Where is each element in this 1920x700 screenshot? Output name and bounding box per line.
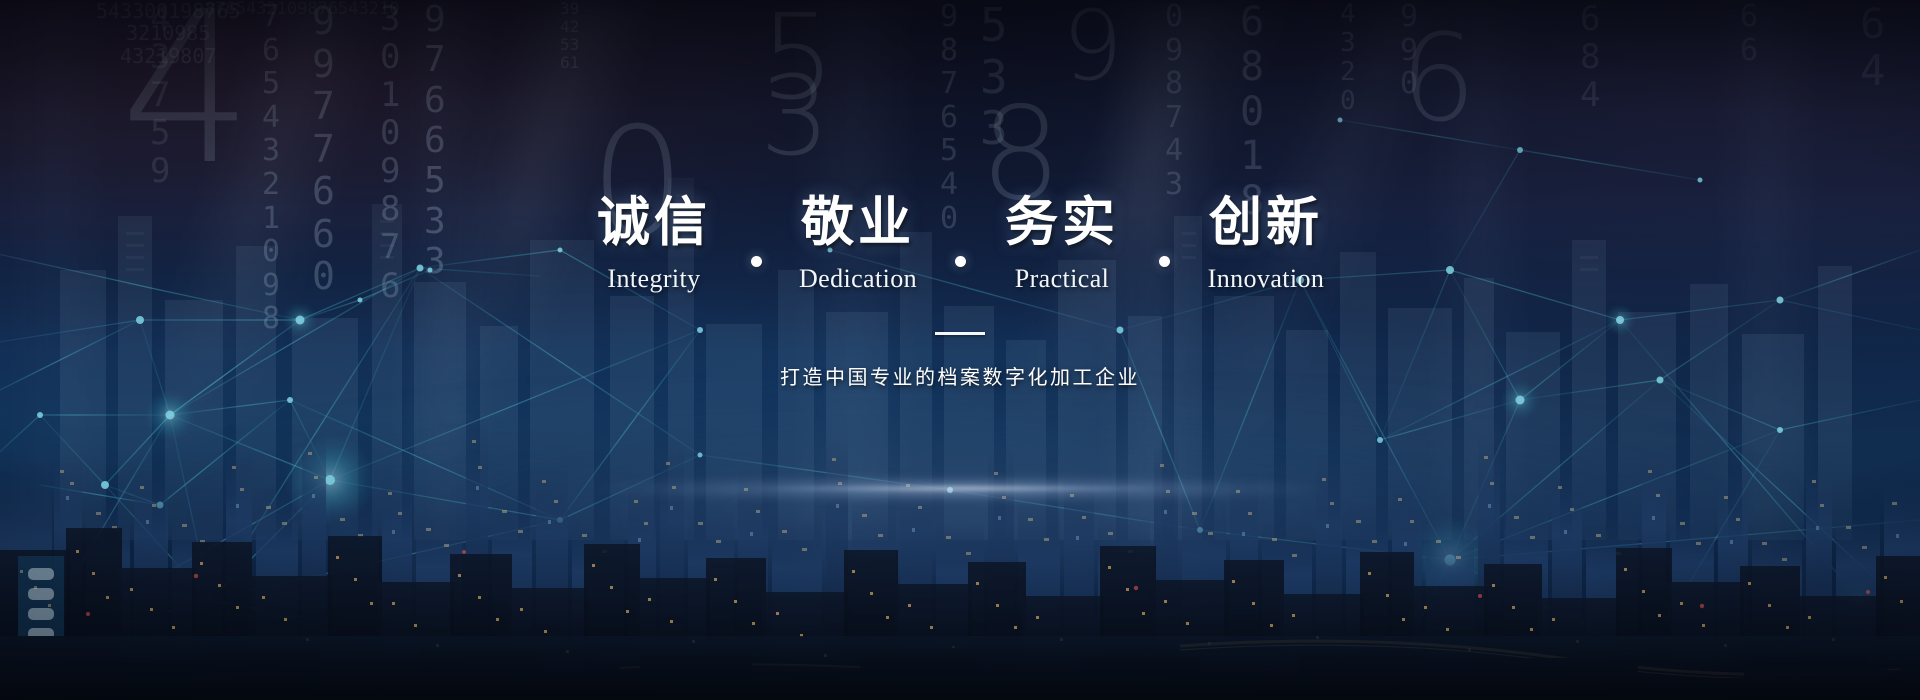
slogan-separator (1138, 239, 1190, 292)
hero-banner: 543300198765 3210985 432198074 3 7 5 987… (0, 0, 1920, 700)
dot-icon (751, 256, 762, 267)
slogan-word-en: Innovation (1208, 266, 1325, 292)
slogan-word-en: Practical (1015, 266, 1110, 292)
slogan-word: 敬业Dedication (782, 196, 934, 292)
slogan-word: 诚信Integrity (578, 196, 730, 292)
dot-icon (1159, 256, 1170, 267)
slogan-headline: 诚信Integrity敬业Dedication务实Practical创新Inno… (578, 196, 1342, 292)
slogan-word-cn: 创新 (1209, 196, 1323, 249)
slogan-word-cn: 诚信 (597, 196, 711, 249)
slogan-word-en: Integrity (607, 266, 700, 292)
slogan-separator (934, 239, 986, 292)
slogan-word: 务实Practical (986, 196, 1138, 292)
divider-rule (935, 332, 985, 335)
slogan-separator (730, 239, 782, 292)
banner-content: 诚信Integrity敬业Dedication务实Practical创新Inno… (0, 0, 1920, 700)
slogan-word-cn: 务实 (1005, 196, 1119, 249)
banner-tagline: 打造中国专业的档案数字化加工企业 (780, 361, 1140, 390)
dot-icon (955, 256, 966, 267)
slogan-word-cn: 敬业 (801, 196, 915, 249)
slogan-word: 创新Innovation (1190, 196, 1342, 292)
slogan-word-en: Dedication (799, 266, 917, 292)
